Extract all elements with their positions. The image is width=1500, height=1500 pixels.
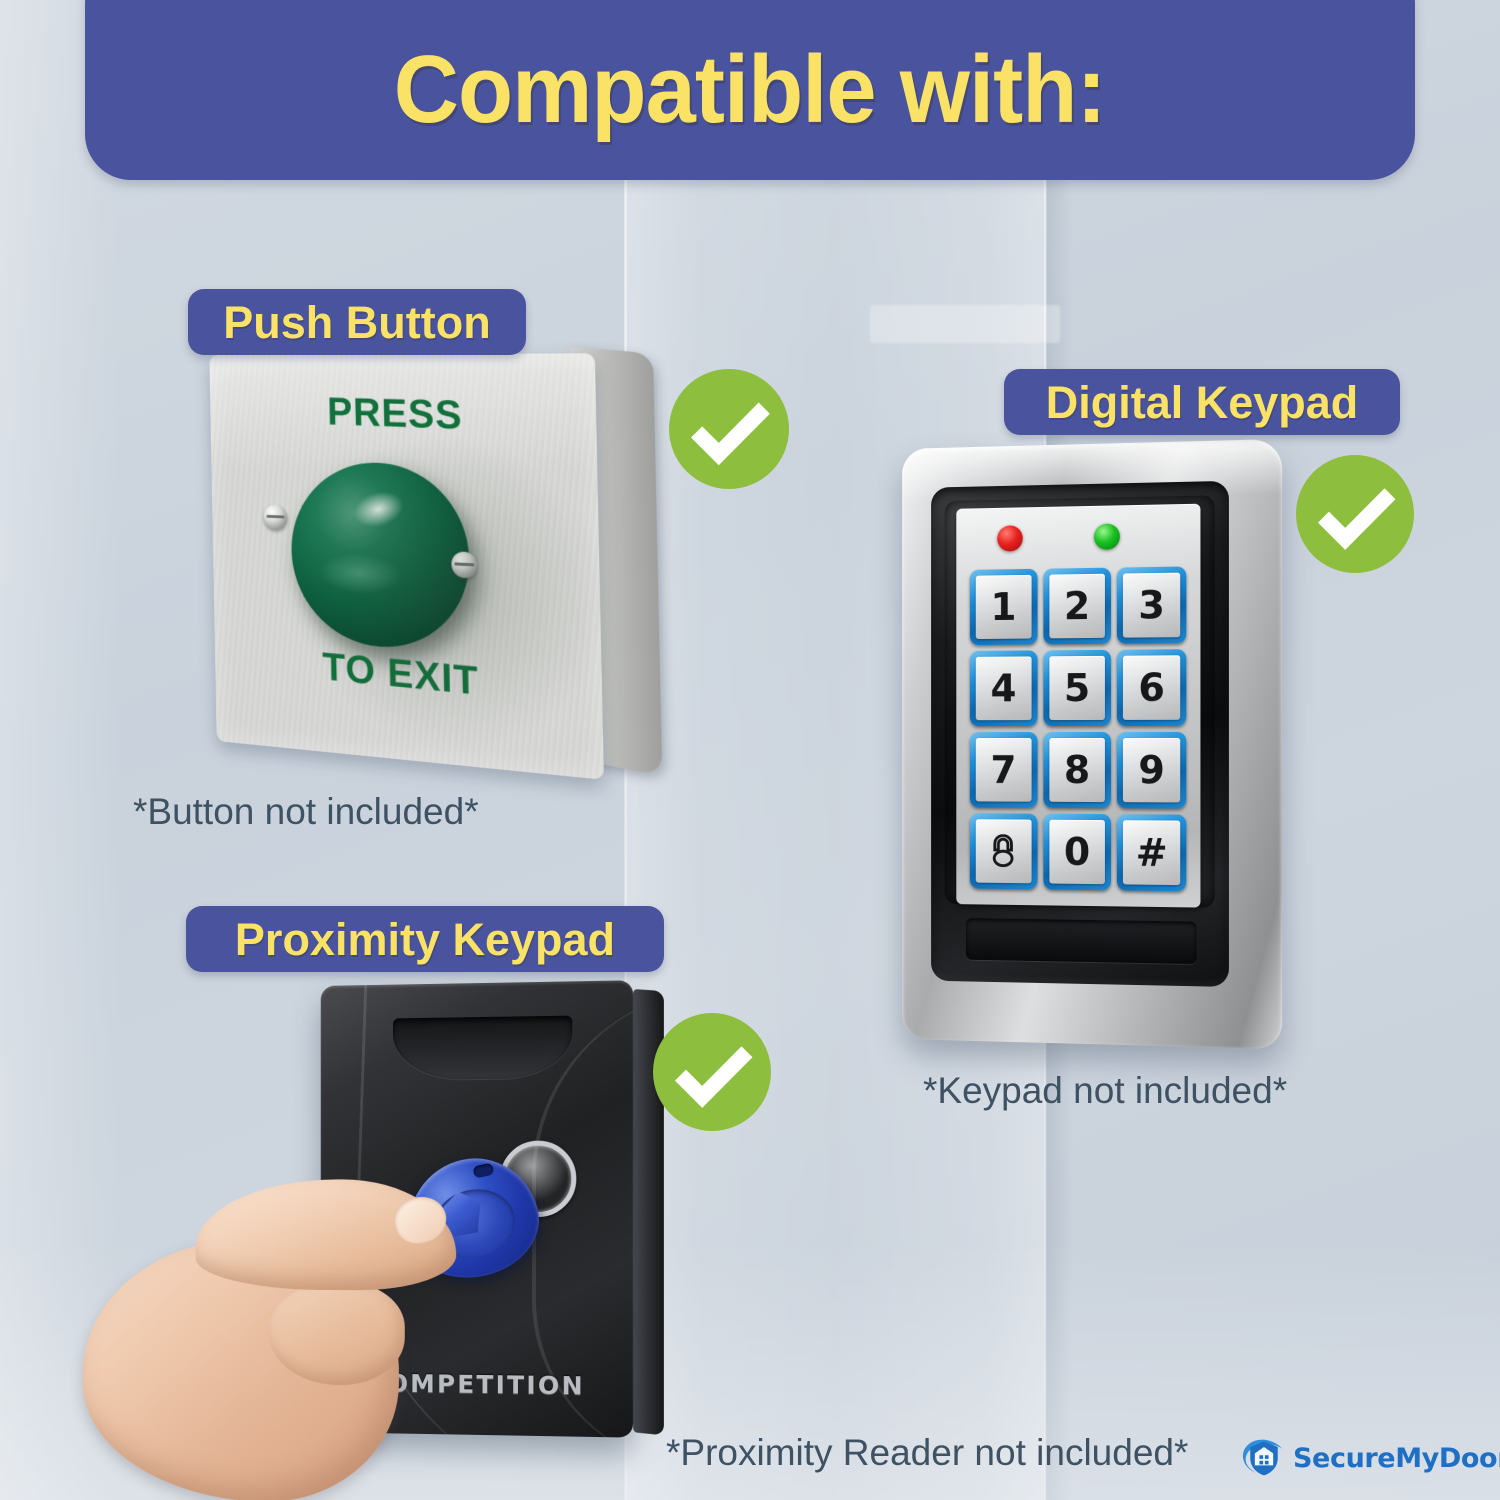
keypad-key-8[interactable]: 8 <box>1043 732 1111 808</box>
keypad-key-2[interactable]: 2 <box>1043 568 1111 645</box>
page-title: Compatible with: <box>394 42 1106 180</box>
led-red-icon <box>997 525 1023 551</box>
keypad-led-row <box>956 522 1200 552</box>
keypad-keys: 1234567890# <box>970 567 1186 892</box>
keypad-key-label: 4 <box>976 656 1032 720</box>
digital-keypad-device: 1234567890# <box>902 439 1282 1049</box>
keypad-key-7[interactable]: 7 <box>970 732 1037 808</box>
keypad-key-label: 0 <box>1049 820 1105 884</box>
led-green-icon <box>1094 523 1120 550</box>
keypad-key-1[interactable]: 1 <box>970 569 1037 645</box>
keypad-key-label: 3 <box>1123 573 1180 638</box>
keypad-key-label: 7 <box>976 738 1032 802</box>
keypad-key-9[interactable]: 9 <box>1117 732 1186 809</box>
hand-holding-fob <box>83 1179 458 1500</box>
keypad-key-label: 9 <box>1123 738 1180 803</box>
keypad-key-6[interactable]: 6 <box>1117 649 1186 726</box>
check-icon-push-button <box>669 369 789 489</box>
check-icon-digital-keypad <box>1296 455 1414 573</box>
keypad-key-label: 2 <box>1049 574 1105 639</box>
shield-house-icon <box>1242 1436 1286 1480</box>
keypad-key-0[interactable]: 0 <box>1043 814 1111 891</box>
keypad-key-label: # <box>1123 820 1180 885</box>
proximity-reader-device: COMPETITION <box>321 980 650 1446</box>
push-button-device: PRESS TO EXIT <box>210 335 659 788</box>
badge-digital-keypad-label: Digital Keypad <box>1046 380 1359 425</box>
check-icon-proximity-keypad <box>653 1013 771 1131</box>
keypad-key-label: 1 <box>976 575 1032 639</box>
keypad-key-5[interactable]: 5 <box>1043 650 1111 726</box>
brand-logo-text: SecureMyDoor <box>1293 1443 1500 1474</box>
keypad-key-lock[interactable] <box>970 813 1037 889</box>
brand-logo: SecureMyDoor <box>1242 1432 1474 1484</box>
header-banner: Compatible with: <box>85 0 1415 180</box>
badge-proximity-keypad: Proximity Keypad <box>186 906 664 972</box>
keypad-key-4[interactable]: 4 <box>970 650 1037 726</box>
keypad-bottom-slot <box>966 918 1196 964</box>
badge-proximity-keypad-label: Proximity Keypad <box>235 917 615 962</box>
push-button-plate: PRESS TO EXIT <box>209 353 604 780</box>
push-button-label-to-exit: TO EXIT <box>215 635 603 717</box>
badge-digital-keypad: Digital Keypad <box>1004 369 1400 435</box>
background-plate <box>870 305 1060 343</box>
push-button-screw-left <box>264 504 288 530</box>
lock-icon <box>976 819 1032 883</box>
push-button-screw-right <box>451 551 477 579</box>
caption-proximity-reader: *Proximity Reader not included* <box>666 1432 1188 1474</box>
keypad-key-#[interactable]: # <box>1117 814 1186 891</box>
keypad-key-label: 5 <box>1049 656 1105 720</box>
keypad-key-label: 8 <box>1049 738 1105 802</box>
push-button-dome[interactable] <box>290 461 471 654</box>
keypad-key-label: 6 <box>1123 655 1180 720</box>
caption-push-button: *Button not included* <box>133 791 479 833</box>
badge-push-button: Push Button <box>188 289 526 355</box>
badge-push-button-label: Push Button <box>223 300 490 345</box>
keypad-faceplate: 1234567890# <box>956 504 1200 908</box>
push-button-label-press: PRESS <box>210 387 597 443</box>
infographic-canvas: Compatible with: PRESS TO EXIT Push Butt… <box>0 0 1500 1500</box>
caption-digital-keypad: *Keypad not included* <box>923 1070 1287 1112</box>
keypad-key-3[interactable]: 3 <box>1117 567 1186 644</box>
